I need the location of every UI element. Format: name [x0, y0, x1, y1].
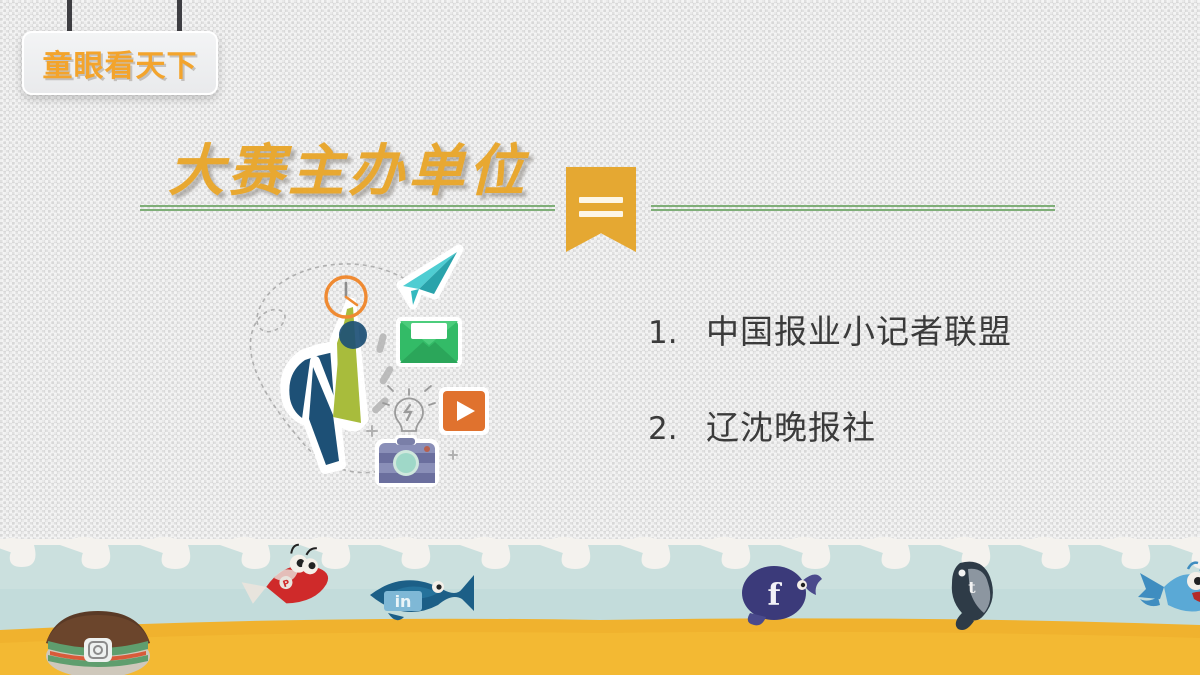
- svg-text:in: in: [395, 592, 412, 611]
- svg-text:t: t: [968, 578, 976, 597]
- ribbon-bar-top: [579, 197, 623, 203]
- svg-text:f: f: [768, 578, 783, 613]
- list-item: 1. 中国报业小记者联盟: [648, 305, 1118, 353]
- ribbon-bar-bottom: [579, 211, 623, 217]
- list-item-number: 1.: [648, 315, 706, 351]
- lightbulb-icon: [383, 386, 435, 442]
- divider-line-left: [140, 205, 555, 211]
- list-item: 2. 辽沈晚报社: [648, 401, 1118, 449]
- envelope-icon: [396, 317, 462, 367]
- presentation-slide: 童眼看天下 大赛主办单位 1. 中国报业小记者联盟 2. 辽沈晚报社: [0, 0, 1200, 675]
- bookmark-ribbon-icon: [566, 167, 636, 252]
- media-icons-cluster: [243, 243, 523, 503]
- megaphone-icon: [286, 303, 367, 469]
- hanging-sign-plate: 童眼看天下: [22, 31, 218, 95]
- page-title: 大赛主办单位: [168, 126, 528, 207]
- organizer-list: 1. 中国报业小记者联盟 2. 辽沈晚报社: [648, 305, 1118, 497]
- sign-string-right: [177, 0, 182, 34]
- clam-instagram-icon: [46, 611, 150, 675]
- play-button-icon: [439, 387, 489, 435]
- bottom-sea-illustration: P in: [0, 525, 1200, 675]
- divider-line-right: [651, 205, 1055, 211]
- list-item-label: 中国报业小记者联盟: [706, 305, 1012, 353]
- hanging-sign-label: 童眼看天下: [43, 41, 198, 85]
- camera-icon: [375, 435, 439, 487]
- sign-string-left: [67, 0, 72, 34]
- list-item-number: 2.: [648, 411, 706, 447]
- list-item-label: 辽沈晚报社: [706, 401, 876, 449]
- paper-plane-icon: [401, 249, 459, 305]
